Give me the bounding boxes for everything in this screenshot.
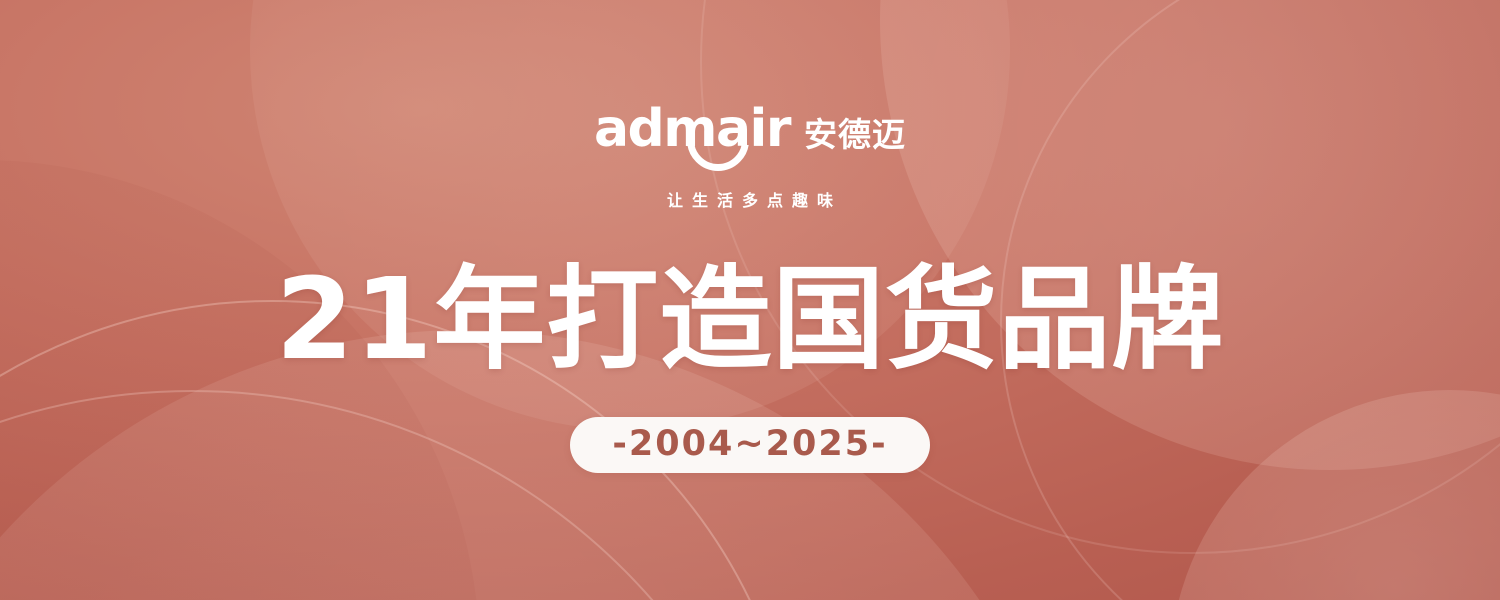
promo-banner: admair 安德迈 让生活多点趣味 21年打造国货品牌 -2004~2025- [0, 0, 1500, 600]
headline-title: 21年打造国货品牌 [276, 264, 1225, 376]
smile-arc-icon [687, 145, 749, 171]
banner-content: admair 安德迈 让生活多点趣味 21年打造国货品牌 -2004~2025- [0, 0, 1500, 600]
brand-tagline: 让生活多点趣味 [658, 193, 842, 209]
year-range-badge: -2004~2025- [570, 417, 929, 473]
brand-logo: admair 安德迈 [594, 103, 906, 155]
brand-wordmark-wrap: admair [594, 103, 790, 155]
brand-name-cn: 安德迈 [804, 118, 906, 155]
